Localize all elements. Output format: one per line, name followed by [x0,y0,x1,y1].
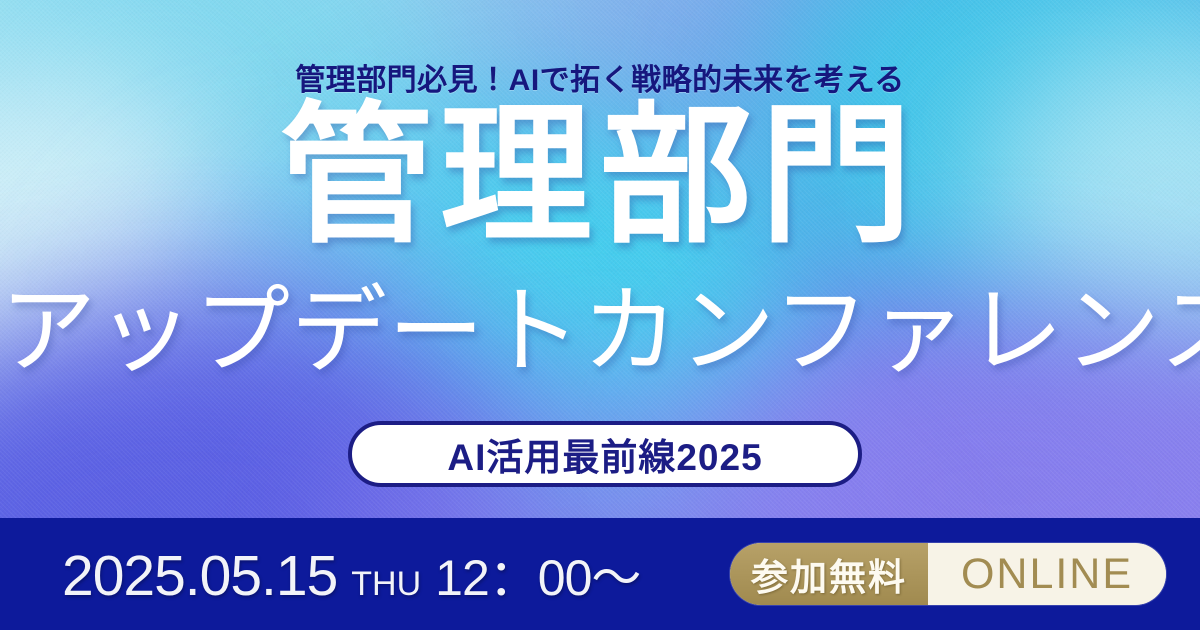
free-entry-label: 参加無料 [751,547,907,601]
attendance-badge: 参加無料 ONLINE [730,543,1166,605]
online-label: ONLINE [961,550,1133,599]
event-time: 12：00〜 [435,538,640,610]
online-segment: ONLINE [928,543,1166,605]
theme-badge-label: AI活用最前線2025 [447,427,762,481]
event-datetime: 2025.05.15 THU 12：00〜 [62,538,640,610]
webinar-banner: 管理部門必見！AIで拓く戦略的未来を考える 管理部門 アップデートカンファレンス… [0,0,1200,630]
bottom-bar: 2025.05.15 THU 12：00〜 参加無料 ONLINE [0,518,1200,630]
event-date: 2025.05.15 [62,543,337,609]
theme-badge: AI活用最前線2025 [348,421,862,487]
page-subtitle: アップデートカンファレンス [0,284,1200,380]
event-day-of-week: THU [351,565,421,604]
free-entry-segment: 参加無料 [730,543,928,605]
page-title: 管理部門 [0,100,1200,252]
